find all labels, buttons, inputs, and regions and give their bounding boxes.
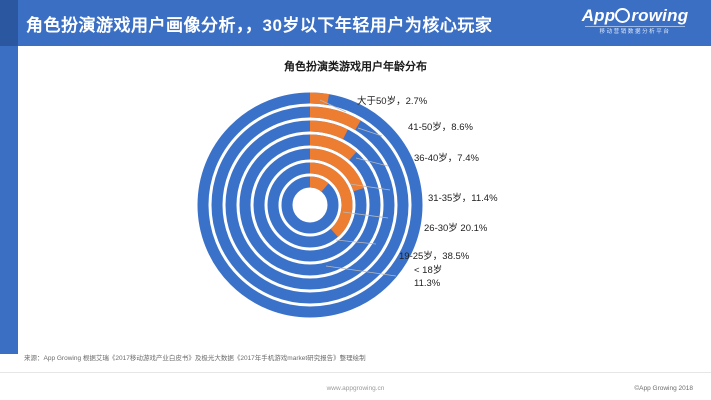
brand-logo: Approwing 移动营销数据分析平台 bbox=[573, 6, 697, 40]
data-label-26-30: 26-30岁 20.1% bbox=[424, 220, 487, 234]
chart-area bbox=[150, 80, 570, 330]
brand-tagline: 移动营销数据分析平台 bbox=[573, 28, 697, 36]
left-accent-bar bbox=[0, 46, 18, 354]
brand-name-app: App bbox=[582, 6, 616, 25]
data-label-19-25: 19-25岁，38.5% bbox=[399, 248, 469, 262]
data-label-41-50: 41-50岁，8.6% bbox=[408, 119, 473, 133]
brand-divider bbox=[585, 26, 685, 27]
data-label-under18-line1: < 18岁 bbox=[414, 262, 442, 276]
footer-copyright: ©App Growing 2018 bbox=[634, 385, 693, 392]
header-band: 角色扮演游戏用户画像分析，，30岁以下年轻用户为核心玩家 Approwing 移… bbox=[0, 0, 711, 46]
data-label-under18-line2: 11.3% bbox=[414, 278, 440, 289]
source-note: 来源：App Growing 根据艾瑞《2017移动游戏产业白皮书》及极光大数据… bbox=[24, 352, 366, 362]
brand-g-icon bbox=[615, 8, 630, 23]
footer-site-url: www.appgrowing.cn bbox=[0, 385, 711, 392]
page-title: 角色扮演游戏用户画像分析，，30岁以下年轻用户为核心玩家 bbox=[26, 11, 492, 36]
slide: 角色扮演游戏用户画像分析，，30岁以下年轻用户为核心玩家 Approwing 移… bbox=[0, 0, 711, 400]
chart-title: 角色扮演类游戏用户年龄分布 bbox=[0, 58, 711, 74]
brand-name-growing: rowing bbox=[631, 6, 688, 25]
data-label-31-35: 31-35岁，11.4% bbox=[428, 190, 498, 204]
data-label-36-40: 36-40岁，7.4% bbox=[414, 150, 479, 164]
brand-name: Approwing bbox=[573, 6, 697, 25]
ring-track-under18 bbox=[287, 182, 333, 228]
data-label-over50: 大于50岁，2.7% bbox=[357, 93, 427, 107]
radial-bar-chart bbox=[150, 80, 570, 330]
header-accent-bar bbox=[0, 0, 18, 46]
